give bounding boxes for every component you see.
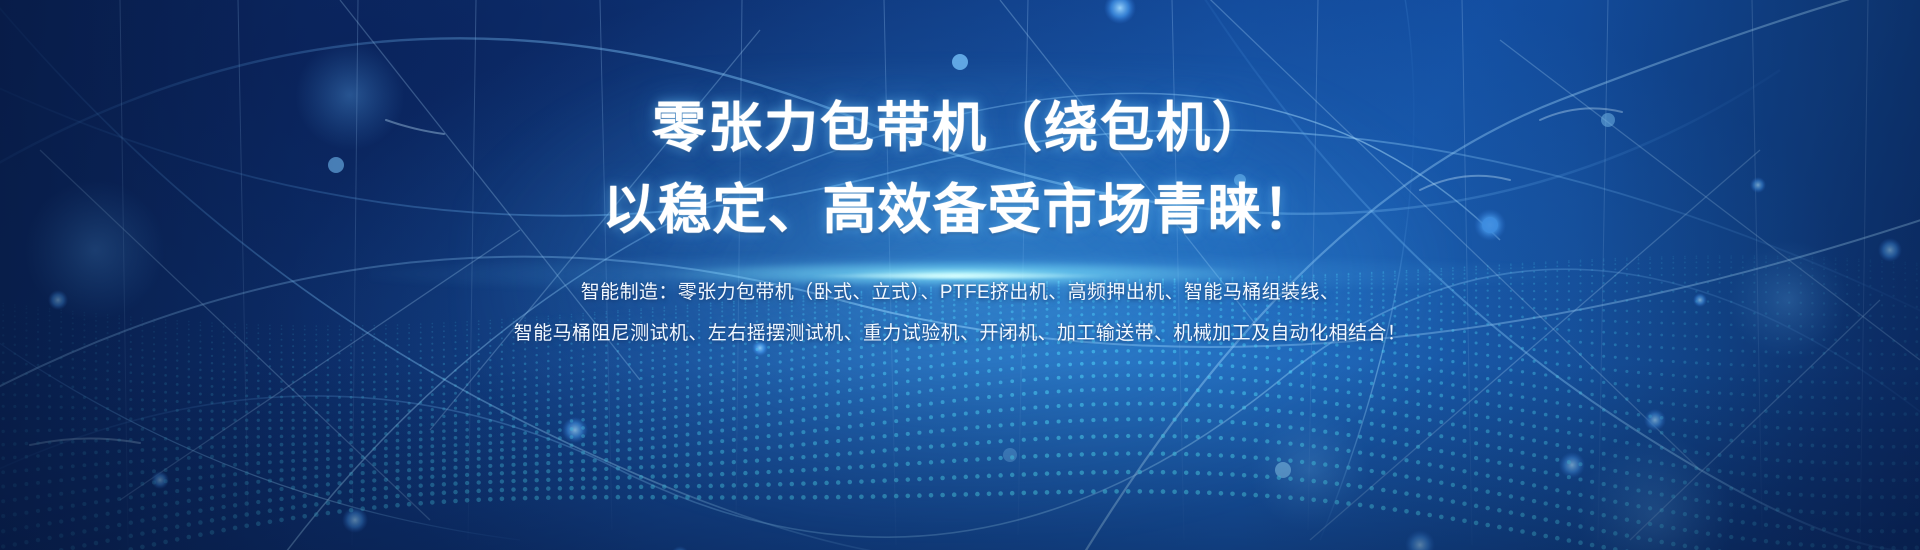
banner-content: 零张力包带机（绕包机） 以稳定、高效备受市场青睐！ 智能制造：零张力包带机（卧式… bbox=[0, 0, 1920, 550]
banner-subtitle-line-1: 智能制造：零张力包带机（卧式、立式）、PTFE挤出机、高频押出机、智能马桶组装线… bbox=[581, 280, 1339, 306]
banner-headline-line-2: 以稳定、高效备受市场青睐！ bbox=[603, 180, 1318, 240]
hero-banner: 零张力包带机（绕包机） 以稳定、高效备受市场青睐！ 智能制造：零张力包带机（卧式… bbox=[0, 0, 1920, 550]
banner-subtitle-line-2: 智能马桶阻尼测试机、左右摇摆测试机、重力试验机、开闭机、加工输送带、机械加工及自… bbox=[514, 321, 1406, 347]
banner-headline-line-1: 零张力包带机（绕包机） bbox=[652, 98, 1268, 158]
